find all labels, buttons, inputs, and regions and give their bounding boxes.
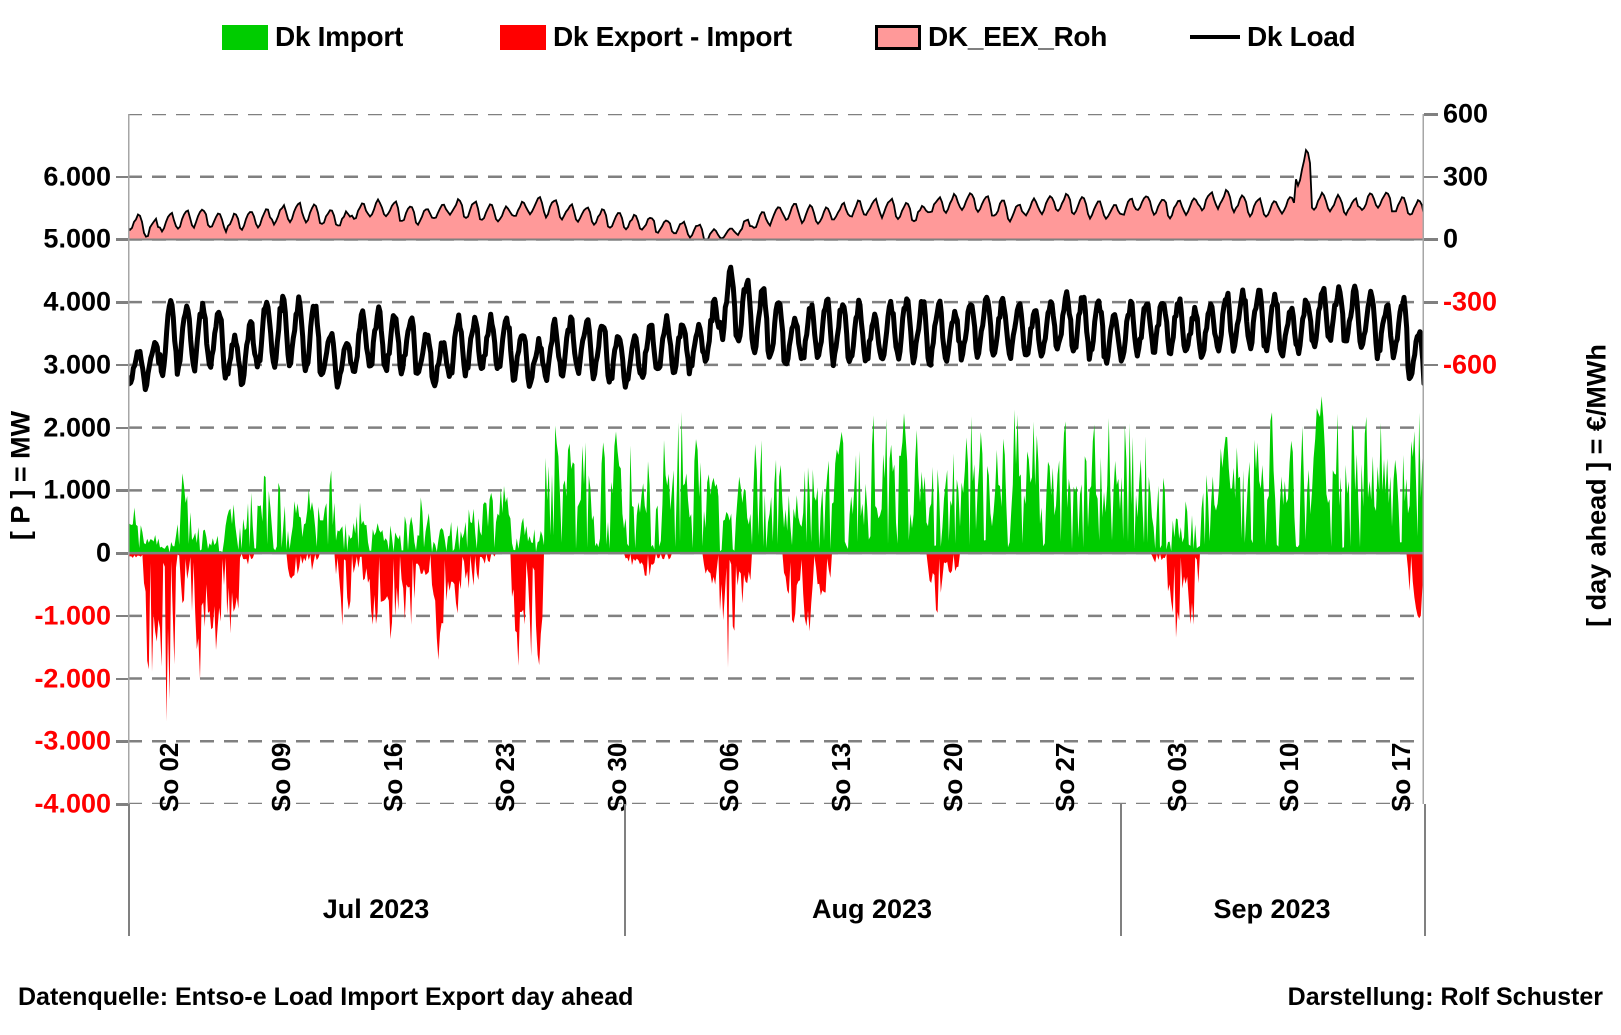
legend-item-2[interactable]: DK_EEX_Roh <box>875 14 1107 60</box>
chart-svg <box>128 114 1424 804</box>
y-tick-left: 1.000 <box>0 475 111 506</box>
legend-label: Dk Export - Import <box>553 21 792 53</box>
x-tick-label: So 09 <box>266 743 297 812</box>
legend-item-3[interactable]: Dk Load <box>1190 14 1355 60</box>
pink-square-icon <box>875 25 921 50</box>
y-tick-right: 600 <box>1443 99 1603 130</box>
y-tick-left: 2.000 <box>0 412 111 443</box>
x-tick-label: So 30 <box>602 743 633 812</box>
y-tick-left: 6.000 <box>0 161 111 192</box>
y-tick-left: 3.000 <box>0 349 111 380</box>
x-tick-label: So 23 <box>490 743 521 812</box>
x-tick-label: So 16 <box>378 743 409 812</box>
y-tick-mark-left <box>116 301 128 304</box>
y-tick-mark-left <box>116 615 128 618</box>
y-tick-right: 0 <box>1443 224 1603 255</box>
month-separator <box>1424 804 1426 936</box>
y-tick-mark-right <box>1424 364 1438 367</box>
y-tick-mark-right <box>1424 238 1438 241</box>
y-tick-right: -600 <box>1443 349 1603 380</box>
y-tick-mark-left <box>116 364 128 367</box>
series-area-dk-import <box>128 396 1424 553</box>
x-axis-month-label: Sep 2023 <box>1120 894 1424 925</box>
x-tick-label: So 13 <box>826 743 857 812</box>
x-tick-label: So 03 <box>1162 743 1193 812</box>
x-tick-label: So 06 <box>714 743 745 812</box>
y-tick-mark-right <box>1424 301 1438 304</box>
y-tick-mark-left <box>116 803 128 806</box>
y-tick-mark-left <box>116 489 128 492</box>
y-tick-left: -1.000 <box>0 600 111 631</box>
x-tick-label: So 27 <box>1050 743 1081 812</box>
y-tick-left: -4.000 <box>0 789 111 820</box>
plot-area <box>128 114 1424 804</box>
month-separator <box>624 804 626 936</box>
legend-label: DK_EEX_Roh <box>928 21 1107 53</box>
month-separator <box>1120 804 1122 936</box>
footer-source: Datenquelle: Entso-e Load Import Export … <box>18 983 633 1012</box>
y-tick-mark-left <box>116 678 128 681</box>
series-area-dk-export-import <box>128 553 1424 721</box>
y-tick-mark-left <box>116 427 128 430</box>
footer-credit: Darstellung: Rolf Schuster <box>1288 983 1603 1012</box>
left-axis-title: [ P ] = MW <box>0 0 38 1035</box>
y-tick-left: -3.000 <box>0 726 111 757</box>
x-tick-label: So 20 <box>938 743 969 812</box>
x-axis-month-label: Jul 2023 <box>128 894 624 925</box>
y-tick-mark-right <box>1424 176 1438 179</box>
month-separator <box>128 804 130 936</box>
y-tick-left: -2.000 <box>0 663 111 694</box>
chart-legend: Dk ImportDk Export - ImportDK_EEX_RohDk … <box>0 14 1621 60</box>
black-line-icon <box>1190 35 1240 39</box>
x-tick-label: So 10 <box>1274 743 1305 812</box>
red-square-icon <box>500 25 546 50</box>
legend-item-0[interactable]: Dk Import <box>222 14 403 60</box>
y-tick-mark-left <box>116 176 128 179</box>
legend-item-1[interactable]: Dk Export - Import <box>500 14 792 60</box>
right-axis-title-text: [ day ahead ] = €/MWh <box>1582 341 1613 631</box>
y-tick-right: -300 <box>1443 287 1603 318</box>
legend-label: Dk Load <box>1247 21 1355 53</box>
y-tick-mark-left <box>116 238 128 241</box>
right-axis-title: [ day ahead ] = €/MWh <box>1560 0 1610 1035</box>
y-tick-left: 5.000 <box>0 224 111 255</box>
y-tick-left: 0 <box>0 538 111 569</box>
x-axis-month-label: Aug 2023 <box>624 894 1120 925</box>
series-line-dk-load <box>128 267 1424 389</box>
y-tick-mark-left <box>116 552 128 555</box>
x-tick-label: So 02 <box>154 743 185 812</box>
y-tick-left: 4.000 <box>0 287 111 318</box>
y-tick-mark-right <box>1424 113 1438 116</box>
x-tick-label: So 17 <box>1386 743 1417 812</box>
green-square-icon <box>222 25 268 50</box>
y-tick-right: 300 <box>1443 161 1603 192</box>
y-tick-mark-left <box>116 740 128 743</box>
legend-label: Dk Import <box>275 21 403 53</box>
